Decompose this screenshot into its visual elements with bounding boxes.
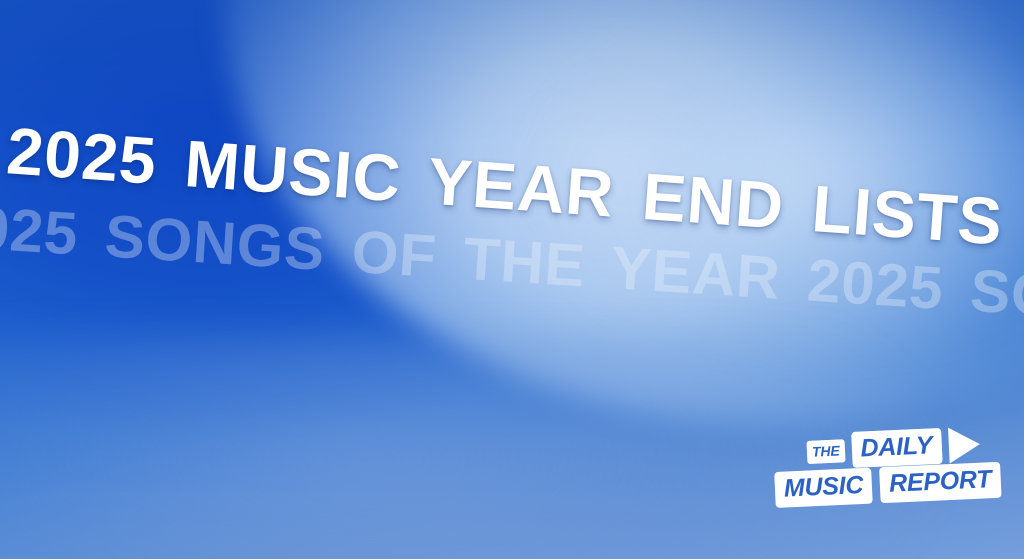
promo-graphic: 2025 SONGS OF THE YEAR 2025 SONGS OF THE… (0, 0, 1024, 559)
play-triangle-icon (948, 426, 981, 463)
logo-music-chip: MUSIC (774, 468, 873, 508)
daily-music-report-logo[interactable]: The DAILY MUSIC REPORT (775, 432, 975, 520)
logo-daily-chip: DAILY (851, 428, 942, 468)
logo-report-chip: REPORT (879, 462, 1001, 503)
logo-the-chip: The (806, 439, 845, 464)
